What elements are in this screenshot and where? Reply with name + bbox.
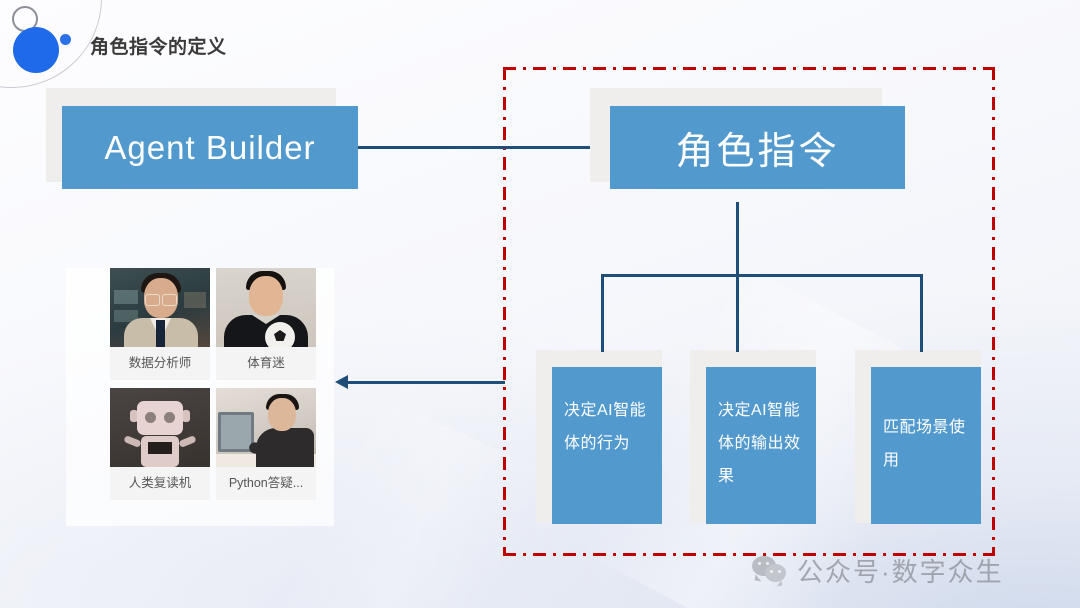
connector-agent-to-role xyxy=(358,146,590,149)
small-filled-circle-icon xyxy=(60,34,71,45)
python-tutor-photo xyxy=(216,388,316,467)
node-leaf-scenario-label: 匹配场景使用 xyxy=(871,367,981,524)
node-role-instruction[interactable]: 角色指令 角色指令 xyxy=(590,88,905,202)
page-title: 角色指令的定义 xyxy=(90,32,227,59)
node-agent-builder[interactable]: Agent Builder Agent Builder xyxy=(46,88,358,202)
list-item[interactable]: 人类复读机 xyxy=(110,388,210,500)
node-role-instruction-label: 角色指令 xyxy=(610,106,905,189)
analyst-photo xyxy=(110,268,210,347)
connector-drop-scenario xyxy=(920,274,923,352)
watermark: 公众号·数字众生 xyxy=(752,552,1004,589)
list-item-label: 体育迷 xyxy=(216,347,316,380)
node-leaf-scenario[interactable]: 匹配场景使用 xyxy=(855,350,999,540)
list-item[interactable]: Python答疑... xyxy=(216,388,316,500)
agent-gallery-panel: 数据分析师 体育迷 人类复读机 xyxy=(66,268,334,526)
list-item-label: 人类复读机 xyxy=(110,467,210,500)
list-item[interactable]: 数据分析师 xyxy=(110,268,210,380)
list-item-label: Python答疑... xyxy=(216,467,316,500)
connector-drop-output xyxy=(736,274,739,352)
robot-photo xyxy=(110,388,210,467)
connector-arrow-shaft xyxy=(345,381,505,384)
connector-tree-bar xyxy=(601,274,923,277)
wechat-icon xyxy=(752,556,788,586)
filled-circle-icon xyxy=(13,27,59,73)
list-item[interactable]: 体育迷 xyxy=(216,268,316,380)
connector-drop-behavior xyxy=(601,274,604,352)
node-leaf-output[interactable]: 决定AI智能体的输出效果 xyxy=(690,350,834,540)
node-agent-builder-label: Agent Builder xyxy=(62,106,358,189)
node-leaf-output-label: 决定AI智能体的输出效果 xyxy=(706,367,816,524)
arrow-head-icon xyxy=(335,375,348,389)
slide-canvas: 角色指令的定义 Agent Builder Agent Builder 角色指令… xyxy=(0,0,1080,608)
node-leaf-behavior[interactable]: 决定AI智能体的行为 xyxy=(536,350,680,540)
node-leaf-behavior-label: 决定AI智能体的行为 xyxy=(552,367,662,524)
sports-fan-photo xyxy=(216,268,316,347)
list-item-label: 数据分析师 xyxy=(110,347,210,380)
agent-card-grid: 数据分析师 体育迷 人类复读机 xyxy=(110,268,316,500)
watermark-text: 公众号·数字众生 xyxy=(797,552,1004,589)
connector-role-stem xyxy=(736,202,739,276)
